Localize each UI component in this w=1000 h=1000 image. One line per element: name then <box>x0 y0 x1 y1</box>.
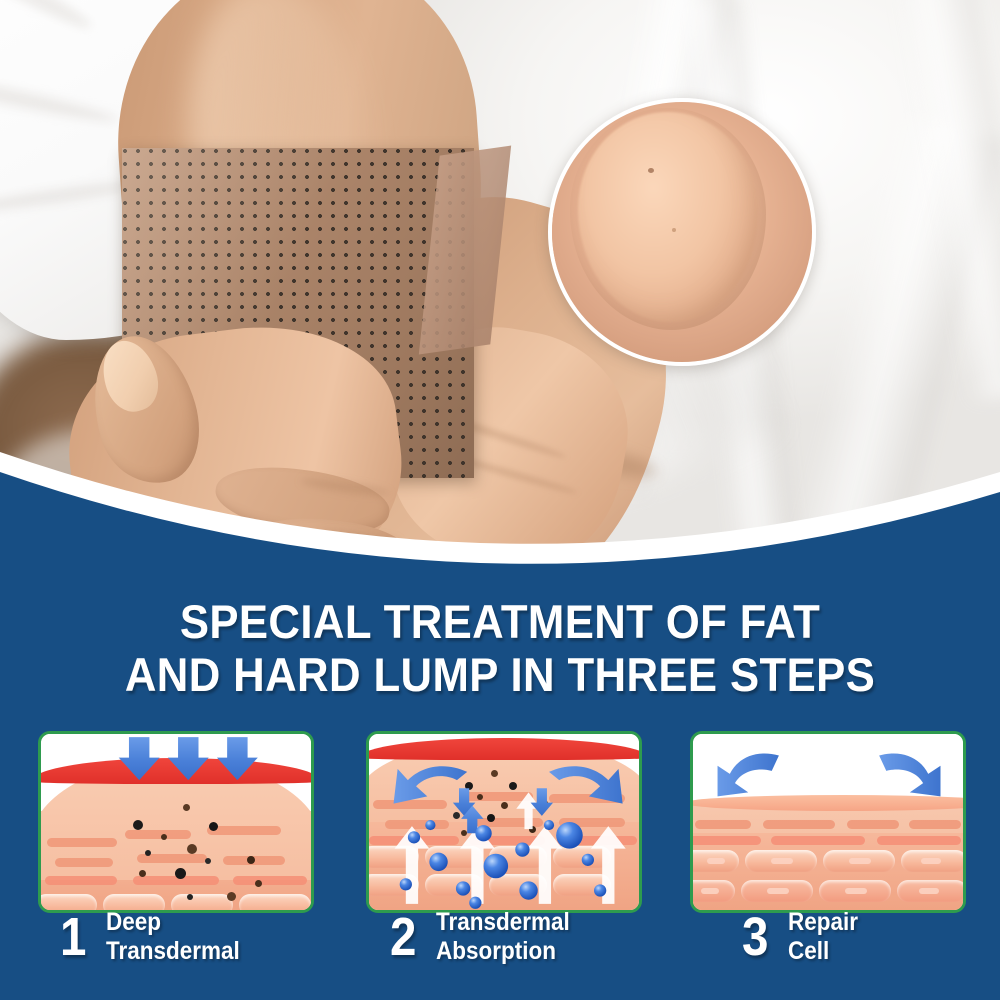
curved-arrow-right-icon <box>549 766 623 803</box>
step-3: 3 Repair Cell <box>742 908 866 966</box>
curved-divider <box>0 420 1000 600</box>
step-3-number: 3 <box>742 910 768 964</box>
curved-arrow-left-icon <box>394 766 468 803</box>
lump-closeup-circle <box>548 98 816 366</box>
particle <box>429 853 447 871</box>
step-1-label: Deep Transdermal <box>106 908 240 966</box>
panel-2 <box>366 731 642 913</box>
sleeve-fold <box>0 68 119 127</box>
step-labels: 1 Deep Transdermal 2 Transdermal Absorpt… <box>0 908 1000 980</box>
step-1-number: 1 <box>60 910 86 964</box>
particle <box>519 881 537 899</box>
particle <box>408 831 420 843</box>
panel-3 <box>690 731 966 913</box>
skin-mark <box>672 228 676 232</box>
step-2: 2 Transdermal Absorption <box>390 908 585 966</box>
step-3-label: Repair Cell <box>788 908 858 966</box>
product-advertisement: SPECIAL TREATMENT OF FAT AND HARD LUMP I… <box>0 0 1000 1000</box>
step-2-label: Transdermal Absorption <box>436 908 570 966</box>
headline-line-1: SPECIAL TREATMENT OF FAT <box>35 596 965 649</box>
step-2-line-1: Transdermal <box>436 908 570 937</box>
absorption-arrow-group <box>369 734 639 910</box>
step-3-line-2: Cell <box>788 937 858 966</box>
curved-arrow-left-icon <box>718 753 779 796</box>
sleeve-fold <box>0 178 140 217</box>
arrow-down-icon <box>217 737 258 780</box>
particle <box>544 820 554 830</box>
step-1-line-1: Deep <box>106 908 240 937</box>
particle <box>556 822 583 849</box>
sleeve-fold <box>0 0 95 35</box>
arrow-down-icon <box>119 737 160 780</box>
step-2-line-2: Absorption <box>436 937 570 966</box>
skin-mark <box>648 168 654 173</box>
particle <box>484 854 509 879</box>
headline: SPECIAL TREATMENT OF FAT AND HARD LUMP I… <box>35 596 965 701</box>
upward-arrow-group <box>395 792 626 903</box>
particle <box>594 884 606 896</box>
step-1: 1 Deep Transdermal <box>60 908 255 966</box>
particle <box>456 881 470 895</box>
step-1-line-2: Transdermal <box>106 937 240 966</box>
curved-arrow-right-icon <box>879 753 940 796</box>
panel-1 <box>38 731 314 913</box>
particle <box>582 854 594 866</box>
step-2-number: 2 <box>390 910 416 964</box>
particle <box>475 825 491 841</box>
downward-arrow-group <box>41 734 311 910</box>
absorbed-particle-group <box>400 820 607 909</box>
particle <box>400 878 412 890</box>
headline-line-2: AND HARD LUMP IN THREE STEPS <box>35 649 965 702</box>
particle <box>515 842 529 856</box>
particle <box>425 820 435 830</box>
step-3-line-1: Repair <box>788 908 858 937</box>
arrow-down-icon <box>168 737 209 780</box>
step-diagrams <box>0 731 1000 907</box>
outward-arrow-group <box>693 734 963 910</box>
